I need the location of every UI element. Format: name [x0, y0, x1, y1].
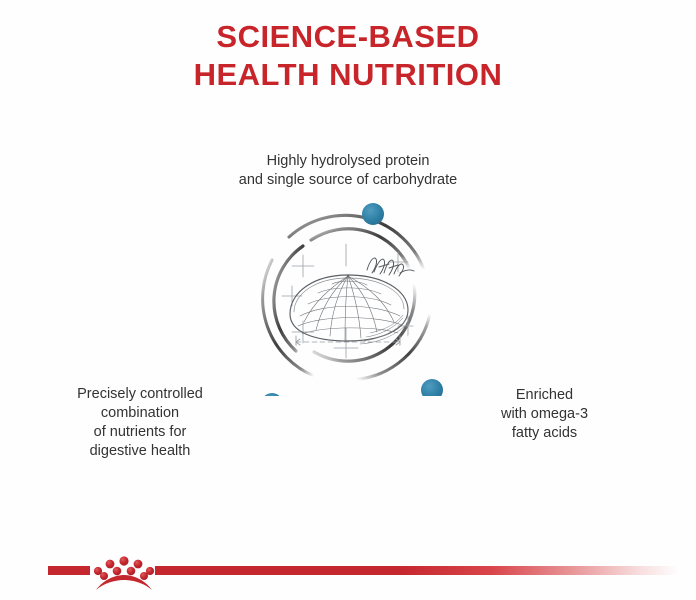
- footer-rule-right: [155, 566, 680, 575]
- callout-right-omega3: Enriched with omega-3 fatty acids: [452, 386, 637, 443]
- callout-top-line-2: and single source of carbohydrate: [0, 171, 696, 190]
- node-dot-top[interactable]: [362, 203, 384, 225]
- callout-top-line-1: Highly hydrolysed protein: [0, 152, 696, 171]
- footer-brand-bar: [0, 555, 696, 600]
- callout-right-line-2: with omega-3: [452, 405, 637, 424]
- node-dot-bottom-right[interactable]: [421, 379, 443, 396]
- royal-canin-crown-logo: [90, 550, 158, 592]
- callout-left-line-2: combination: [30, 404, 250, 423]
- poster-canvas: SCIENCE-BASED HEALTH NUTRITION Highly hy…: [0, 0, 696, 600]
- callout-left-line-4: digestive health: [30, 442, 250, 461]
- mesh-latitudes: [298, 281, 402, 334]
- node-dot-bottom-left[interactable]: [261, 393, 283, 396]
- footer-rule-left: [48, 566, 90, 575]
- callout-left-line-1: Precisely controlled: [30, 385, 250, 404]
- callout-left-nutrients: Precisely controlled combination of nutr…: [30, 385, 250, 461]
- callout-right-line-3: fatty acids: [452, 424, 637, 443]
- central-emblem: [248, 196, 448, 396]
- callout-top-protein: Highly hydrolysed protein and single sou…: [0, 152, 696, 190]
- page-title: SCIENCE-BASED HEALTH NUTRITION: [0, 18, 696, 94]
- title-line-2: HEALTH NUTRITION: [0, 56, 696, 94]
- title-line-1: SCIENCE-BASED: [0, 18, 696, 56]
- callout-right-line-1: Enriched: [452, 386, 637, 405]
- callout-left-line-3: of nutrients for: [30, 423, 250, 442]
